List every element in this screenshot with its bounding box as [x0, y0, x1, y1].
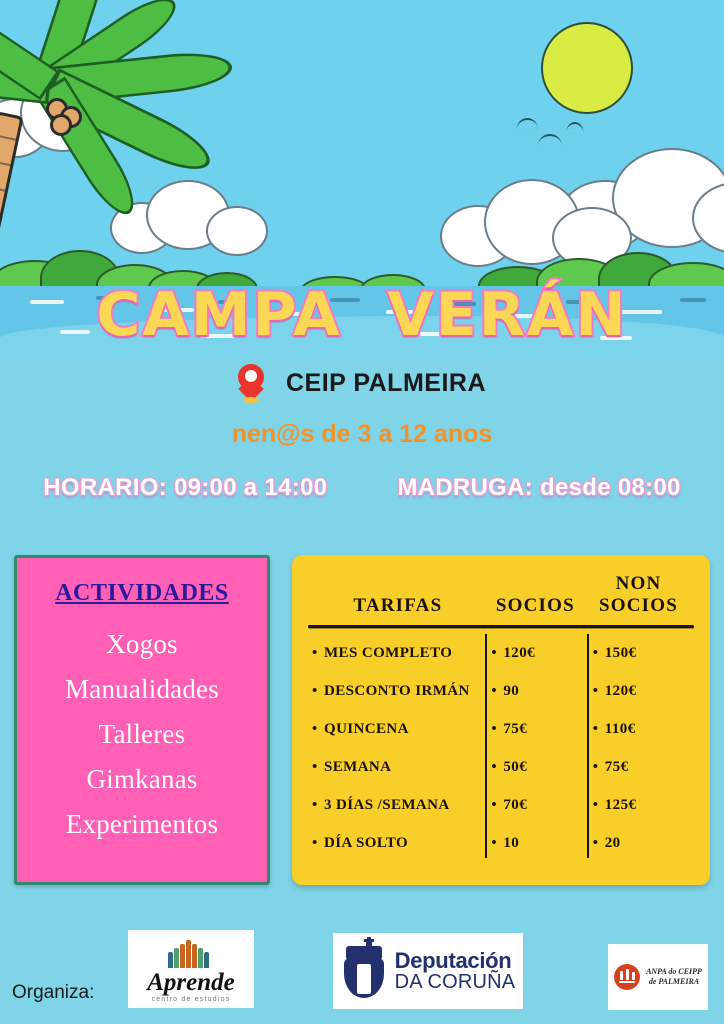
activities-list: Xogos Manualidades Talleres Gimkanas Exp… — [17, 629, 267, 840]
tariffs-header-rule — [308, 625, 694, 628]
open-book-icon — [168, 940, 214, 968]
age-range-text: nen@s de 3 a 12 anos — [0, 420, 724, 449]
coat-of-arms-icon — [341, 942, 387, 1000]
logo-anpa-subtitle: de PALMEIRA — [646, 977, 702, 987]
tariffs-header-non-socios: NON SOCIOS — [585, 573, 692, 617]
logo-anpa-text: ANPA do CEIPP de PALMEIRA — [646, 967, 702, 987]
logo-deputacion-subtitle: DA CORUÑA — [395, 972, 516, 992]
location-row: CEIP PALMEIRA — [0, 364, 724, 402]
tariffs-header-socios: SOCIOS — [486, 595, 585, 617]
anpa-circle-icon — [614, 964, 640, 990]
tariff-socios: 10 — [485, 835, 586, 852]
table-row: DÍA SOLTO 10 20 — [306, 824, 696, 862]
tariff-non-socios: 150€ — [587, 645, 696, 662]
tariff-non-socios: 75€ — [587, 759, 696, 776]
location-pin-icon — [238, 364, 264, 402]
tariff-concept: MES COMPLETO — [306, 645, 485, 662]
logo-deputacion-name: Deputación — [395, 950, 516, 972]
list-item: Gimkanas — [17, 764, 267, 795]
tariff-socios: 50€ — [485, 759, 586, 776]
location-name: CEIP PALMEIRA — [286, 369, 486, 398]
schedule-hours: HORARIO: 09:00 a 14:00 — [43, 474, 327, 502]
table-row: DESCONTO IRMÁN 90 120€ — [306, 672, 696, 710]
table-row: SEMANA 50€ 75€ — [306, 748, 696, 786]
sun-icon — [541, 22, 633, 114]
tariff-concept: DESCONTO IRMÁN — [306, 683, 485, 700]
table-row: MES COMPLETO 120€ 150€ — [306, 634, 696, 672]
organiza-label: Organiza: — [12, 982, 94, 1004]
list-item: Xogos — [17, 629, 267, 660]
tariff-socios: 90 — [485, 683, 586, 700]
logo-anpa-name: ANPA do CEIPP — [646, 967, 702, 977]
tariff-socios: 75€ — [485, 721, 586, 738]
tariff-concept: DÍA SOLTO — [306, 835, 485, 852]
tariffs-header-row: TARIFAS SOCIOS NON SOCIOS — [306, 569, 696, 625]
tariff-socios: 120€ — [485, 645, 586, 662]
tariff-non-socios: 120€ — [587, 683, 696, 700]
tariffs-body: MES COMPLETO 120€ 150€ DESCONTO IRMÁN 90… — [306, 634, 696, 862]
table-row: QUINCENA 75€ 110€ — [306, 710, 696, 748]
tariff-non-socios: 20 — [587, 835, 696, 852]
activities-panel: ACTIVIDADES Xogos Manualidades Talleres … — [14, 555, 270, 885]
tariff-concept: QUINCENA — [306, 721, 485, 738]
poster-root: CAMPA VERÁN CEIP PALMEIRA nen@s de 3 a 1… — [0, 0, 724, 1024]
table-row: 3 DÍAS /SEMANA 70€ 125€ — [306, 786, 696, 824]
tariffs-header-concept: TARIFAS — [310, 595, 486, 617]
tariff-socios: 70€ — [485, 797, 586, 814]
activities-title: ACTIVIDADES — [17, 580, 267, 607]
logo-anpa: ANPA do CEIPP de PALMEIRA — [608, 944, 708, 1010]
logo-deputacion: Deputación DA CORUÑA — [333, 933, 523, 1009]
page-title: CAMPA VERÁN — [0, 280, 724, 350]
column-divider — [485, 634, 487, 858]
list-item: Talleres — [17, 719, 267, 750]
list-item: Experimentos — [17, 809, 267, 840]
tariffs-panel: TARIFAS SOCIOS NON SOCIOS MES COMPLETO 1… — [292, 555, 710, 885]
logo-aprende: Aprende centro de estudios — [128, 930, 254, 1008]
list-item: Manualidades — [17, 674, 267, 705]
schedule-row: HORARIO: 09:00 a 14:00 MADRUGA: desde 08… — [0, 474, 724, 502]
logo-aprende-subtitle: centro de estudios — [152, 996, 231, 1003]
tariff-non-socios: 110€ — [587, 721, 696, 738]
tariff-concept: 3 DÍAS /SEMANA — [306, 797, 485, 814]
logo-aprende-name: Aprende — [147, 970, 235, 995]
palm-tree-icon — [0, 0, 330, 314]
logo-deputacion-text: Deputación DA CORUÑA — [395, 950, 516, 993]
tariff-non-socios: 125€ — [587, 797, 696, 814]
tariff-concept: SEMANA — [306, 759, 485, 776]
schedule-early-drop: MADRUGA: desde 08:00 — [397, 474, 680, 502]
column-divider — [587, 634, 589, 858]
